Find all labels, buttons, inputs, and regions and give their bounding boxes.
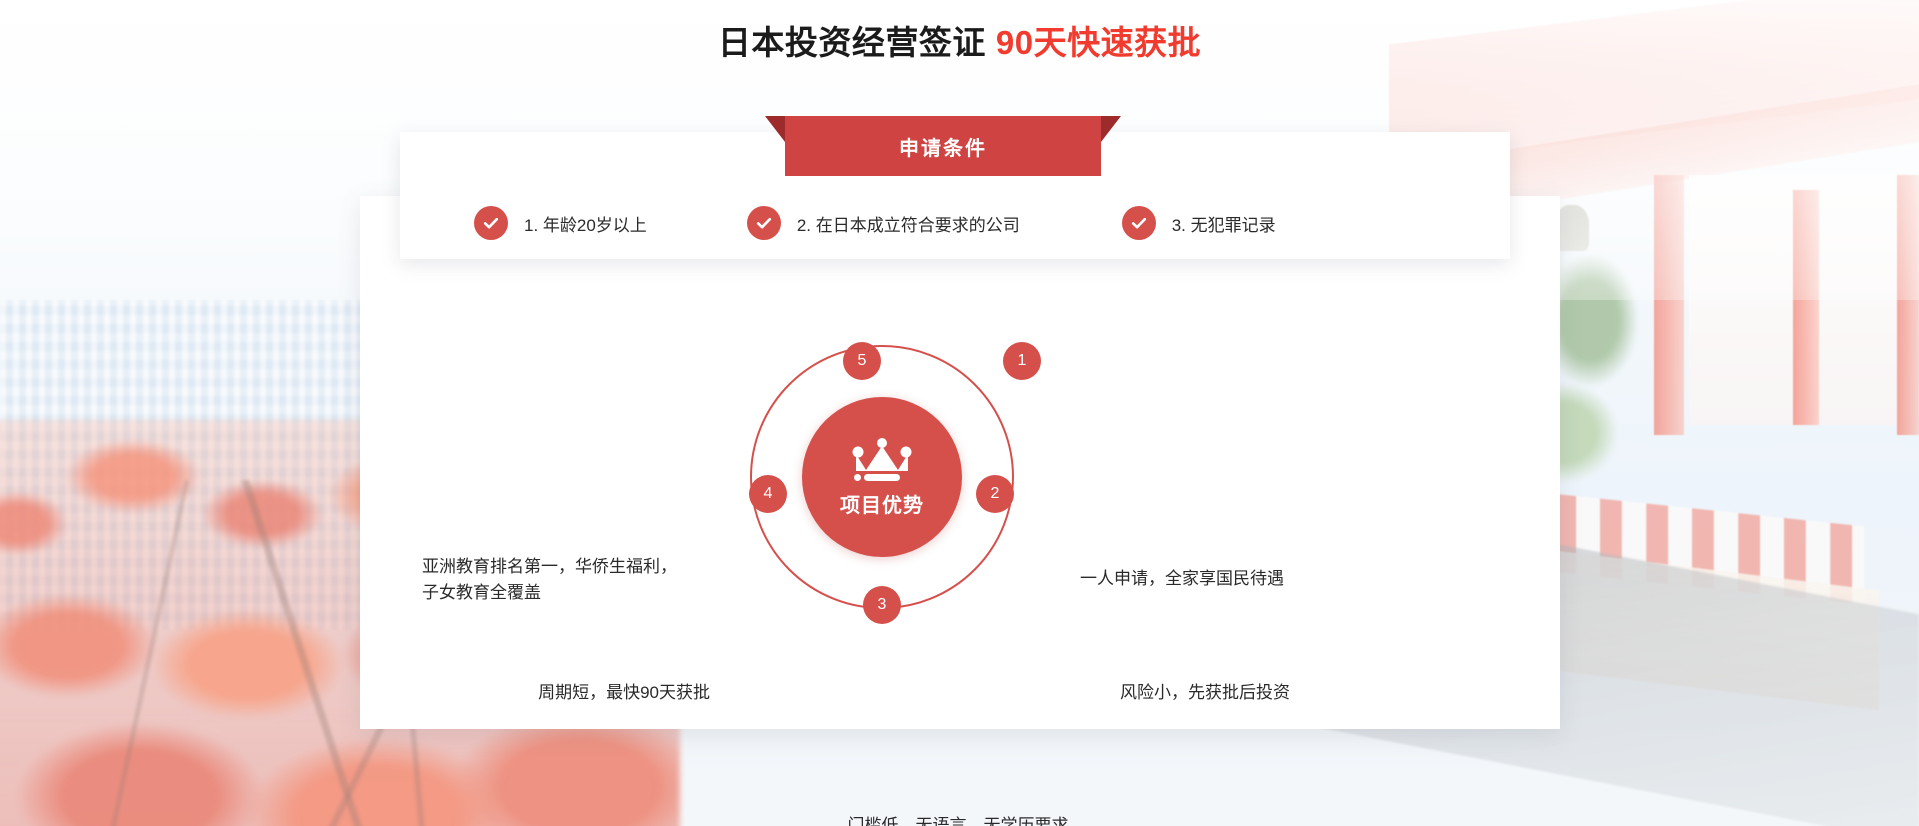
diagram-node-2[interactable]: 2 [976, 475, 1014, 513]
page-title: 日本投资经营签证90天快速获批 [0, 16, 1919, 64]
temple-pillar-c [1897, 175, 1919, 435]
slide-canvas: 日本投资经营签证90天快速获批 申请条件 1. 年龄20岁以上 [0, 0, 1919, 826]
ribbon-label: 申请条件 [899, 132, 987, 161]
diagram-node-1-number: 1 [1018, 353, 1027, 369]
section-ribbon: 申请条件 [765, 116, 1121, 176]
crown-icon [850, 437, 914, 483]
page-title-main: 日本投资经营签证 [718, 24, 986, 61]
diagram-label-1: 一人申请，全家享国民待遇 [1080, 566, 1284, 592]
condition-item-3: 3. 无犯罪记录 [1122, 206, 1276, 240]
page-title-highlight: 90天快速获批 [996, 24, 1201, 61]
diagram-node-2-number: 2 [991, 486, 1000, 502]
diagram-label-2: 风险小，先获批后投资 [1120, 680, 1290, 706]
diagram-label-5: 亚洲教育排名第一，华侨生福利， 子女教育全覆盖 [422, 554, 712, 607]
temple-pillar-a [1654, 175, 1684, 435]
advantages-diagram: 项目优势 5 1 2 3 4 一人申请，全家享国民待遇 风险小，先获批后投资 门… [360, 290, 1560, 710]
diagram-node-5[interactable]: 5 [843, 342, 881, 380]
diagram-node-4-number: 4 [764, 486, 773, 502]
condition-label-3: 3. 无犯罪记录 [1172, 211, 1276, 236]
diagram-node-3-number: 3 [878, 597, 887, 613]
ribbon-fold-left-icon [765, 116, 785, 142]
ribbon-body: 申请条件 [785, 116, 1101, 176]
check-icon [1122, 206, 1156, 240]
ribbon-fold-right-icon [1101, 116, 1121, 142]
temple-pillar-b [1793, 190, 1819, 425]
check-icon [747, 206, 781, 240]
condition-item-1: 1. 年龄20岁以上 [474, 206, 647, 240]
temple-bell-icon [1555, 205, 1589, 251]
diagram-node-1[interactable]: 1 [1003, 342, 1041, 380]
diagram-label-3: 门槛低，无语言，无学历要求 [678, 813, 1238, 826]
diagram-node-4[interactable]: 4 [749, 475, 787, 513]
condition-label-1: 1. 年龄20岁以上 [524, 211, 647, 236]
conditions-row: 1. 年龄20岁以上 2. 在日本成立符合要求的公司 3. 无犯罪记录 [400, 190, 1510, 256]
diagram-label-4: 周期短，最快90天获批 [450, 680, 710, 706]
condition-item-2: 2. 在日本成立符合要求的公司 [747, 206, 1020, 240]
diagram-hub: 项目优势 [802, 397, 962, 557]
check-icon [474, 206, 508, 240]
diagram-label-5-line1: 亚洲教育排名第一，华侨生福利， [422, 554, 712, 580]
diagram-hub-label: 项目优势 [840, 489, 924, 518]
diagram-label-5-line2: 子女教育全覆盖 [422, 580, 712, 606]
diagram-node-5-number: 5 [858, 353, 867, 369]
condition-label-2: 2. 在日本成立符合要求的公司 [797, 211, 1020, 236]
diagram-node-3[interactable]: 3 [863, 586, 901, 624]
